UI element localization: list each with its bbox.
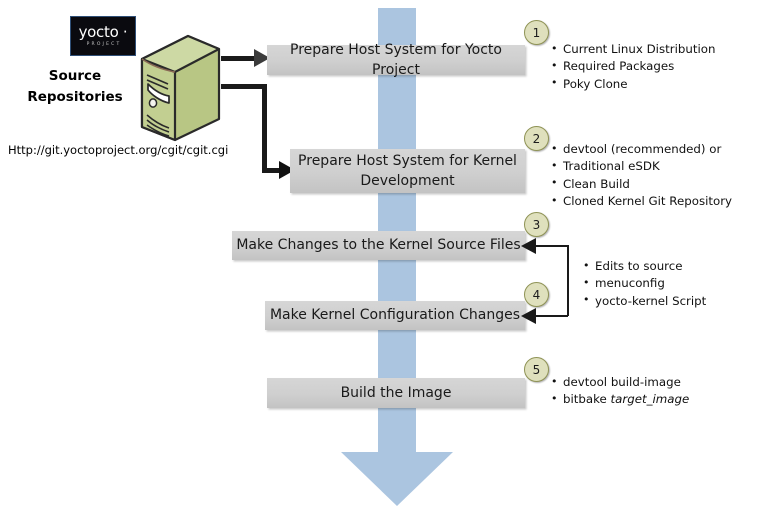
step-number-4-value: 4 [533, 288, 541, 302]
step-number-3: 3 [524, 212, 549, 237]
step-box-2-label-line2: Development [360, 171, 454, 191]
step-2-bullet-0-continuation: Traditional eSDK [551, 158, 732, 175]
step-1-bullet-1: Required Packages [563, 59, 674, 73]
step-5-bullet-0: devtool build-image [563, 375, 681, 389]
workflow-diagram: yocto · PROJECT Source Repositories Http… [0, 0, 769, 517]
step-number-5-value: 5 [533, 363, 541, 377]
source-label-line2: Repositories [27, 89, 122, 105]
list-item: Cloned Kernel Git Repository [551, 193, 732, 210]
step-1-bullet-0: Current Linux Distribution [563, 42, 715, 56]
step-box-2-label-line1: Prepare Host System for Kernel [298, 151, 517, 171]
step-box-4-label: Make Kernel Configuration Changes [270, 305, 520, 325]
source-repository-url: Http://git.yoctoproject.org/cgit/cgit.cg… [8, 143, 228, 157]
step-number-1-value: 1 [533, 26, 541, 40]
step-number-4: 4 [524, 282, 549, 307]
step-2-bullet-0-cont-text: Traditional eSDK [563, 159, 660, 173]
step-1-bullet-2: Poky Clone [563, 77, 628, 91]
shared-bullet-0: Edits to source [595, 259, 683, 273]
connector-server-to-step2-horizontal-top [221, 84, 267, 89]
list-item: menuconfig [583, 275, 706, 292]
list-item: Clean Build [551, 176, 732, 193]
step-5-bullets: devtool build-image bitbake target_image [551, 374, 689, 409]
list-item: devtool build-image [551, 374, 689, 391]
step-box-4[interactable]: Make Kernel Configuration Changes [265, 301, 525, 330]
list-item: Edits to source [583, 258, 706, 275]
yocto-project-logo: yocto · PROJECT [70, 16, 136, 56]
list-item: Current Linux Distribution [551, 41, 715, 58]
list-item: bitbake target_image [551, 391, 689, 408]
step-2-bullet-0: devtool (recommended) or [563, 142, 721, 156]
step-box-1-label: Prepare Host System for Yocto Project [267, 40, 525, 81]
step-box-2[interactable]: Prepare Host System for Kernel Developme… [290, 149, 525, 193]
step-box-3-label: Make Changes to the Kernel Source Files [236, 235, 520, 255]
shared-bullet-2: yocto-kernel Script [595, 294, 706, 308]
arrow-into-step-3 [521, 238, 536, 254]
list-item: Required Packages [551, 58, 715, 75]
list-item: yocto-kernel Script [583, 293, 706, 310]
step-box-5-label: Build the Image [341, 383, 452, 403]
list-item: Poky Clone [551, 76, 715, 93]
step-5-bullet-1: bitbake [563, 392, 611, 406]
bracket-horizontal-step-3 [533, 245, 568, 247]
step-number-2: 2 [524, 126, 549, 151]
connector-server-to-step2-vertical [262, 84, 267, 172]
steps-3-4-shared-bullets: Edits to source menuconfig yocto-kernel … [583, 258, 706, 310]
server-tower-icon [138, 33, 222, 143]
step-2-bullet-1: Clean Build [563, 177, 630, 191]
step-1-bullets: Current Linux Distribution Required Pack… [551, 41, 715, 93]
step-5-bullet-1-italic: target_image [611, 392, 690, 406]
shared-bullet-1: menuconfig [595, 276, 665, 290]
step-2-bullet-2: Cloned Kernel Git Repository [563, 194, 732, 208]
step-number-1: 1 [524, 20, 549, 45]
step-number-3-value: 3 [533, 218, 541, 232]
logo-wordmark: yocto · [79, 25, 128, 40]
bracket-vertical-steps-3-4 [567, 245, 569, 316]
step-2-bullets: devtool (recommended) or Traditional eSD… [551, 141, 732, 211]
bracket-horizontal-step-4 [533, 315, 568, 317]
list-item: devtool (recommended) or [551, 141, 732, 158]
logo-subtext: PROJECT [87, 43, 122, 48]
step-number-5: 5 [524, 357, 549, 382]
step-box-5[interactable]: Build the Image [267, 378, 525, 408]
step-box-3[interactable]: Make Changes to the Kernel Source Files [232, 231, 525, 260]
connector-server-to-step1 [221, 56, 257, 61]
arrow-into-step-4 [521, 308, 536, 324]
step-box-1[interactable]: Prepare Host System for Yocto Project [267, 45, 525, 75]
source-repositories-label: Source Repositories [16, 66, 134, 108]
flow-arrow-head [341, 452, 453, 506]
step-number-2-value: 2 [533, 132, 541, 146]
source-label-line1: Source [49, 68, 101, 84]
